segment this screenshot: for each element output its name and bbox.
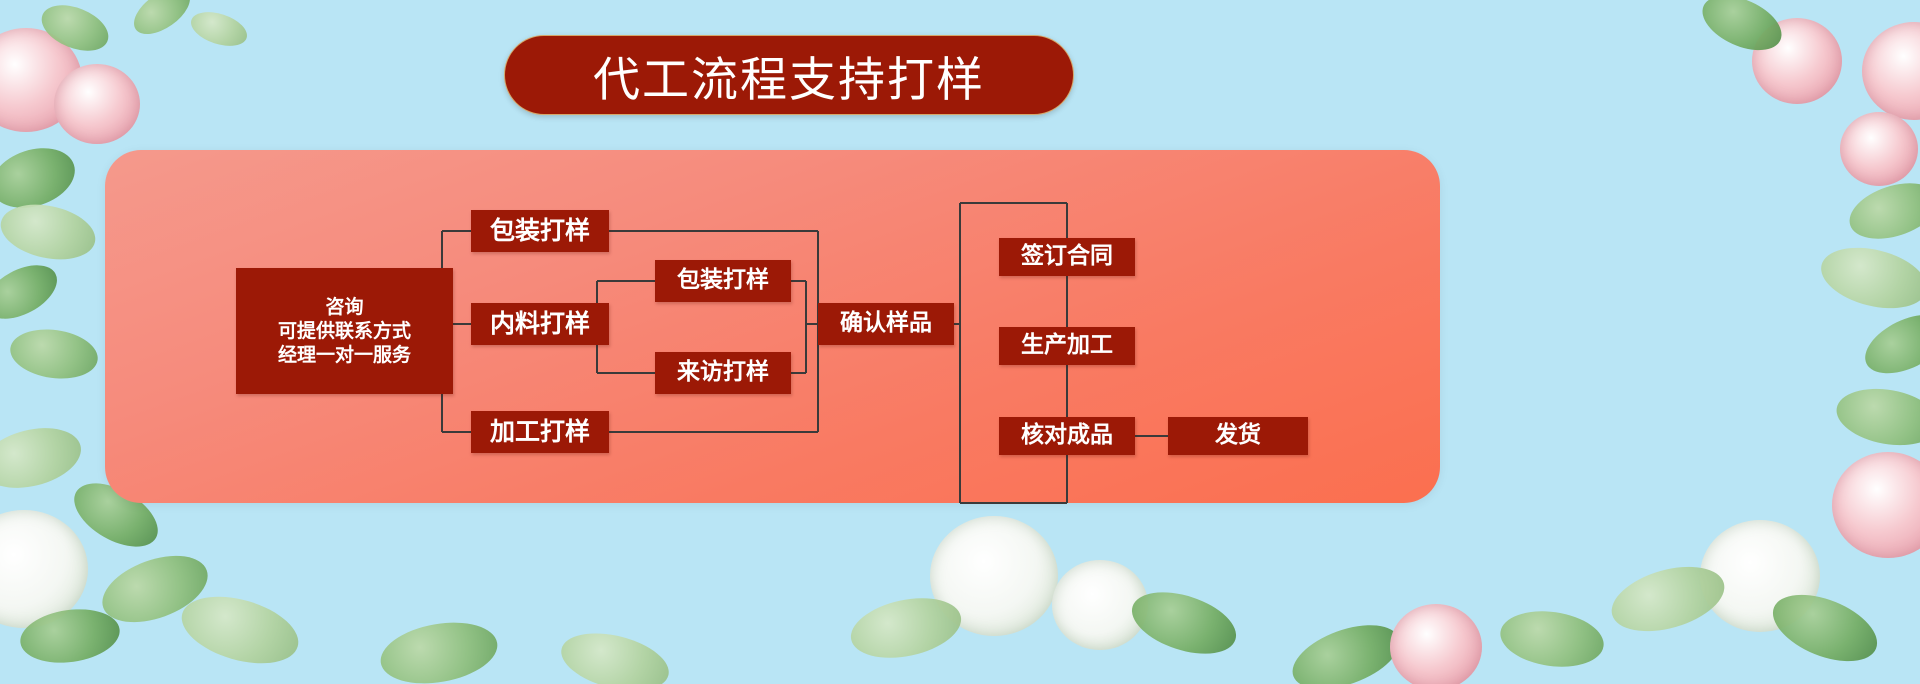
node-visit-sample-label: 来访打样: [677, 358, 769, 387]
page-title-banner: 代工流程支持打样: [504, 35, 1074, 115]
node-consult[interactable]: 咨询 可提供联系方式 经理一对一服务: [236, 268, 453, 394]
node-inner-material-sample-label: 内料打样: [490, 308, 590, 340]
node-confirm-sample-label: 确认样品: [840, 309, 932, 338]
node-sign-contract[interactable]: 签订合同: [999, 238, 1135, 276]
node-check-finished-goods[interactable]: 核对成品: [999, 417, 1135, 455]
node-production-label: 生产加工: [1021, 331, 1113, 360]
page-title: 代工流程支持打样: [593, 41, 985, 110]
node-check-finished-goods-label: 核对成品: [1021, 421, 1113, 450]
node-consult-line1: 咨询: [278, 295, 411, 319]
node-shipment-label: 发货: [1215, 421, 1261, 450]
node-shipment[interactable]: 发货: [1168, 417, 1308, 455]
node-packaging-sample-1-label: 包装打样: [490, 215, 590, 247]
node-packaging-sample-2-label: 包装打样: [677, 266, 769, 295]
node-production[interactable]: 生产加工: [999, 327, 1135, 365]
node-consult-line2: 可提供联系方式: [278, 319, 411, 343]
node-inner-material-sample[interactable]: 内料打样: [471, 303, 609, 345]
node-packaging-sample-1[interactable]: 包装打样: [471, 210, 609, 252]
node-sign-contract-label: 签订合同: [1021, 242, 1113, 271]
node-confirm-sample[interactable]: 确认样品: [818, 303, 954, 345]
node-visit-sample[interactable]: 来访打样: [655, 352, 791, 394]
node-processing-sample-label: 加工打样: [490, 416, 590, 448]
node-consult-line3: 经理一对一服务: [278, 343, 411, 367]
node-packaging-sample-2[interactable]: 包装打样: [655, 260, 791, 302]
node-processing-sample[interactable]: 加工打样: [471, 411, 609, 453]
